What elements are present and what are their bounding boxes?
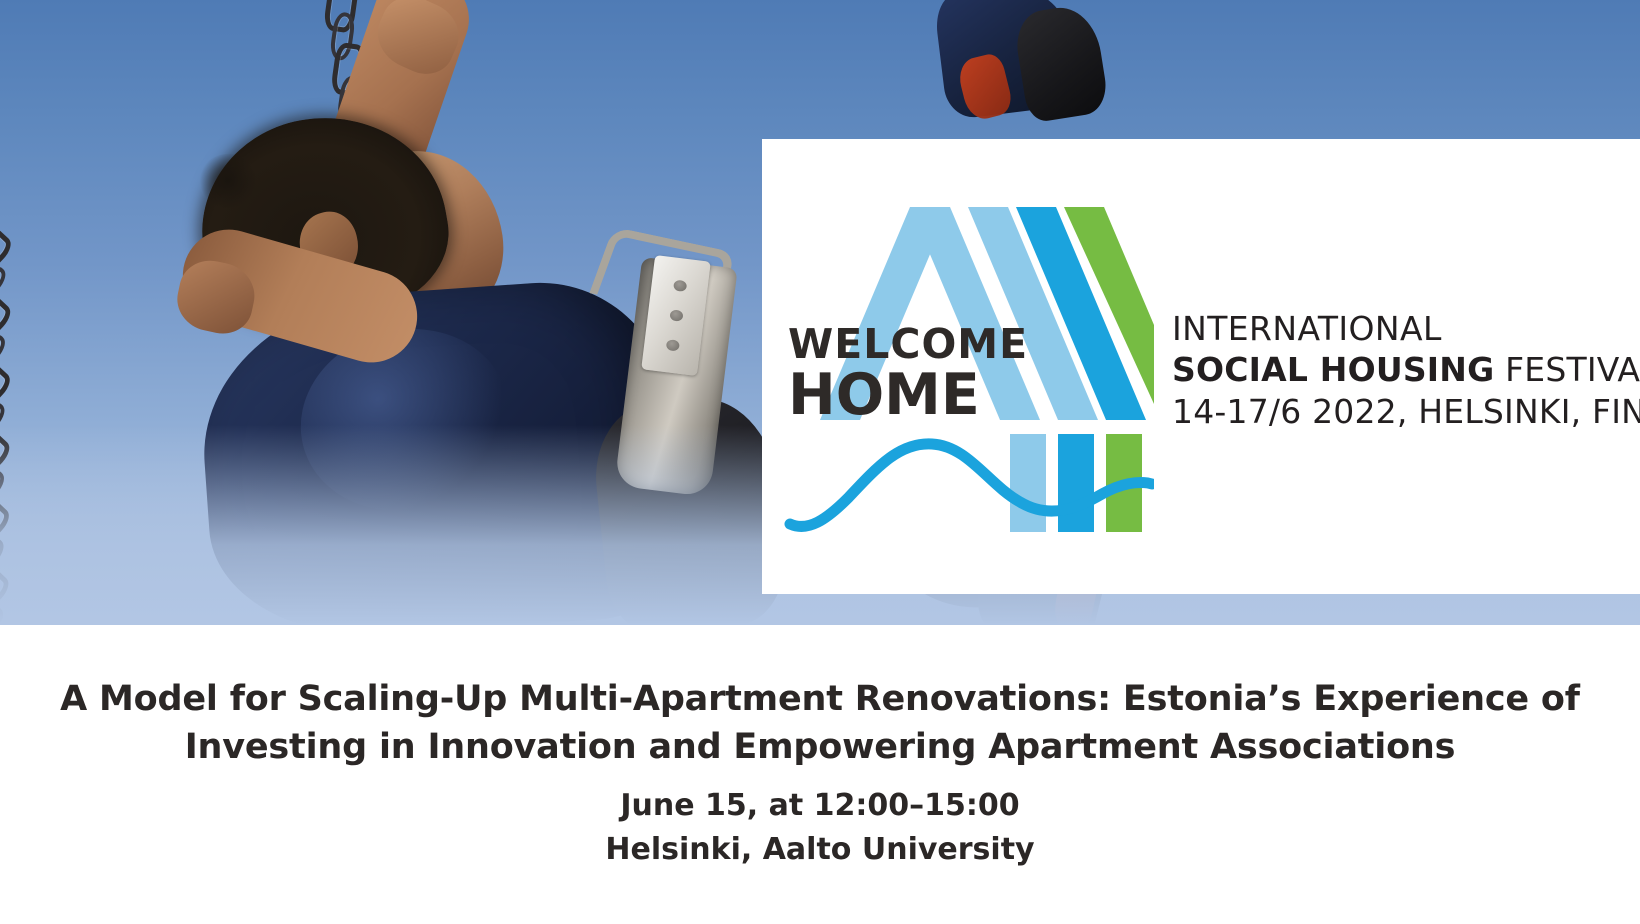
welcome-home-logo: WELCOME HOME bbox=[782, 202, 1154, 532]
wordmark-line-1: WELCOME bbox=[788, 326, 1028, 364]
event-title-line-1: A Model for Scaling-Up Multi-Apartment R… bbox=[0, 675, 1640, 723]
boy-shoe-upper-sole bbox=[1012, 2, 1110, 123]
wordmark-line-2: HOME bbox=[788, 369, 1028, 421]
wordmark: WELCOME HOME bbox=[788, 326, 1028, 422]
event-title-line-2: Investing in Innovation and Empowering A… bbox=[0, 723, 1640, 771]
event-title: A Model for Scaling-Up Multi-Apartment R… bbox=[0, 625, 1640, 772]
festival-line-dates-location: 14-17/6 2022, HELSINKI, FINLAND bbox=[1172, 393, 1640, 431]
festival-line-social-housing-festival: SOCIAL HOUSING FESTIVAL bbox=[1172, 351, 1640, 389]
festival-festival-word: FESTIVAL bbox=[1494, 350, 1640, 389]
event-slide: WELCOME HOME INTERNATIONAL SOCIAL HOUSIN… bbox=[0, 0, 1640, 924]
event-caption: A Model for Scaling-Up Multi-Apartment R… bbox=[0, 625, 1640, 924]
event-meta: June 15, at 12:00–15:00 Helsinki, Aalto … bbox=[0, 772, 1640, 873]
festival-line-international: INTERNATIONAL bbox=[1172, 310, 1640, 348]
event-datetime: June 15, at 12:00–15:00 bbox=[0, 784, 1640, 828]
festival-logo-card: WELCOME HOME INTERNATIONAL SOCIAL HOUSIN… bbox=[762, 139, 1640, 594]
festival-text-block: INTERNATIONAL SOCIAL HOUSING FESTIVAL 14… bbox=[1172, 302, 1640, 431]
festival-social-housing: SOCIAL HOUSING bbox=[1172, 350, 1494, 389]
event-location: Helsinki, Aalto University bbox=[0, 828, 1640, 872]
